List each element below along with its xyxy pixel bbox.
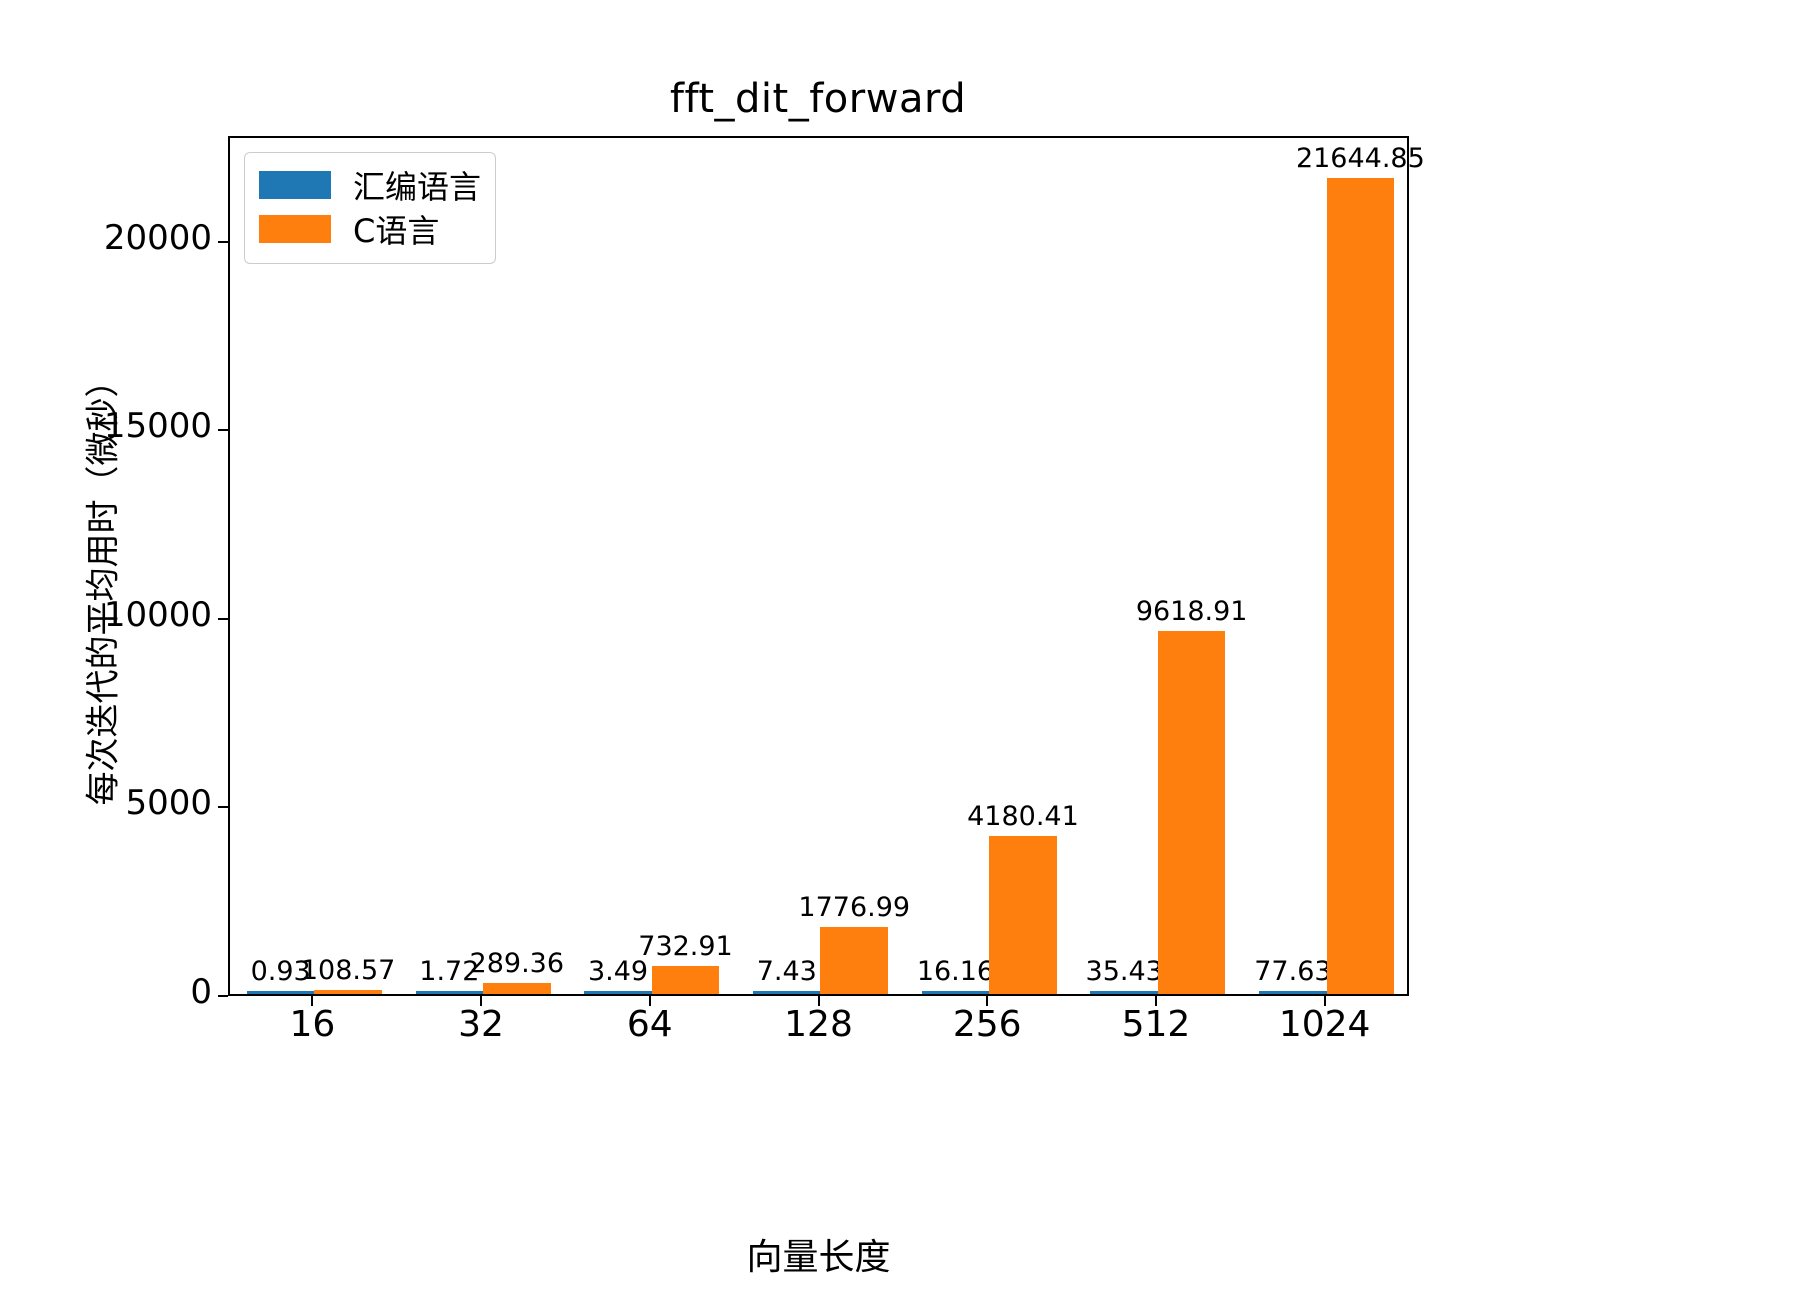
- x-tick-label-16: 16: [289, 1004, 335, 1045]
- y-tick-mark: [218, 618, 228, 620]
- legend-swatch-icon-c: [259, 215, 331, 243]
- x-tick-label-32: 32: [458, 1004, 504, 1045]
- bar-group: 35.439618.91: [1074, 138, 1243, 994]
- legend-item-asm[interactable]: 汇编语言: [259, 163, 481, 207]
- plot-area: 0.93108.571.72289.363.49732.917.431776.9…: [228, 136, 1409, 996]
- bar-group: 16.164180.41: [905, 138, 1074, 994]
- bar-value-label-c-1024: 21644.85: [1250, 145, 1470, 172]
- bar-c-512[interactable]: [1158, 631, 1225, 994]
- bar-group: 3.49732.91: [567, 138, 736, 994]
- bar-group: 0.93108.57: [230, 138, 399, 994]
- bar-asm-32[interactable]: [416, 991, 483, 994]
- y-tick-mark: [218, 995, 228, 997]
- legend: 汇编语言 C语言: [244, 152, 496, 264]
- bar-group: 77.6321644.85: [1242, 138, 1411, 994]
- y-tick-mark: [218, 429, 228, 431]
- figure-canvas: fft_dit_forward 05000100001500020000 每次迭…: [0, 0, 1820, 1300]
- y-axis-label: 每次迭代的平均用时（微秒）: [76, 205, 125, 965]
- legend-swatch-icon-asm: [259, 171, 331, 199]
- bar-asm-512[interactable]: [1090, 991, 1157, 994]
- legend-item-c[interactable]: C语言: [259, 207, 481, 251]
- bar-c-16[interactable]: [314, 990, 381, 994]
- x-tick-label-1024: 1024: [1279, 1004, 1371, 1045]
- x-axis-label: 向量长度: [228, 1228, 1409, 1280]
- x-tick-label-512: 512: [1122, 1004, 1191, 1045]
- bar-asm-64[interactable]: [584, 991, 651, 994]
- bars-layer: 0.93108.571.72289.363.49732.917.431776.9…: [230, 138, 1407, 994]
- bar-group: 7.431776.99: [736, 138, 905, 994]
- x-tick-label-256: 256: [953, 1004, 1022, 1045]
- y-axis-label-wrapper: 每次迭代的平均用时（微秒）: [0, 0, 1, 1]
- bar-asm-1024[interactable]: [1259, 991, 1326, 994]
- bar-asm-16[interactable]: [247, 991, 314, 994]
- legend-label-c: C语言: [353, 206, 439, 252]
- y-tick-label-5000: 5000: [125, 783, 212, 823]
- legend-label-asm: 汇编语言: [353, 162, 481, 208]
- bar-group: 1.72289.36: [399, 138, 568, 994]
- bar-asm-256[interactable]: [922, 991, 989, 994]
- y-tick-mark: [218, 241, 228, 243]
- x-tick-label-64: 64: [627, 1004, 673, 1045]
- x-tick-label-128: 128: [784, 1004, 853, 1045]
- chart-title: fft_dit_forward: [228, 76, 1408, 122]
- y-tick-mark: [218, 806, 228, 808]
- bar-c-1024[interactable]: [1327, 178, 1394, 994]
- bar-asm-128[interactable]: [753, 991, 820, 994]
